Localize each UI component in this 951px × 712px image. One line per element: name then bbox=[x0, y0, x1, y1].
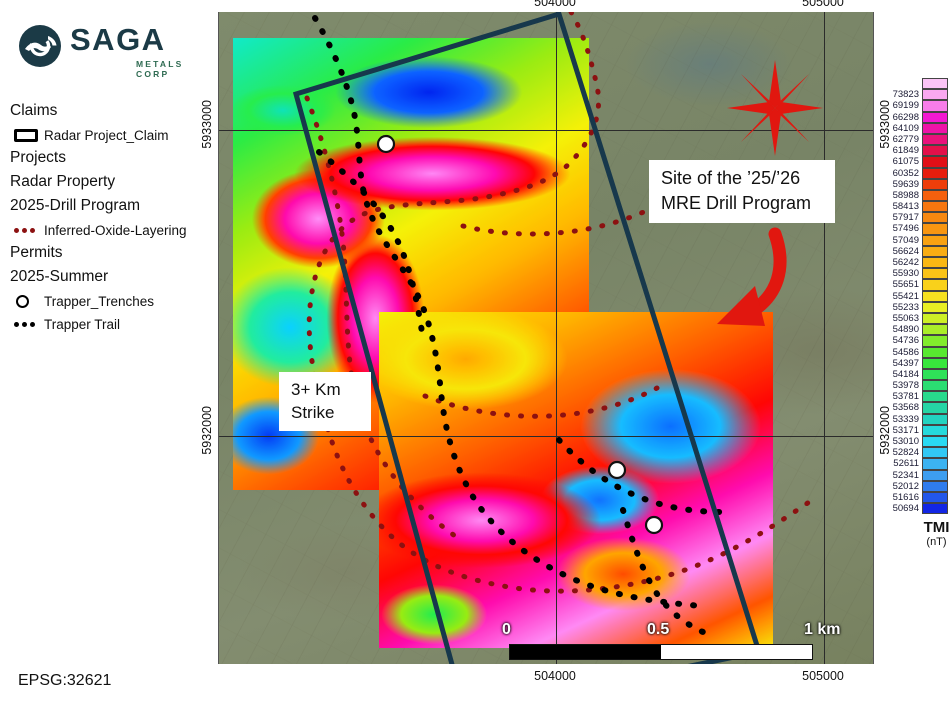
tmi-ramp-row: 53339 bbox=[878, 414, 951, 425]
legend-heading-claims: Claims bbox=[10, 100, 215, 122]
tmi-ramp-row: 64109 bbox=[878, 123, 951, 134]
tmi-ramp-row: 54890 bbox=[878, 324, 951, 335]
black-dotted-line-icon bbox=[10, 322, 44, 327]
tmi-ramp-row: 54586 bbox=[878, 347, 951, 358]
tmi-ramp-swatch bbox=[922, 279, 948, 290]
tmi-ramp-row: 52611 bbox=[878, 458, 951, 469]
tmi-ramp-swatch bbox=[922, 223, 948, 234]
tmi-ramp-value: 54736 bbox=[878, 335, 922, 346]
tmi-ramp-swatch bbox=[922, 190, 948, 201]
scalebar-label-0: 0 bbox=[502, 621, 511, 639]
tmi-ramp-row: 57496 bbox=[878, 223, 951, 234]
saga-logo-mark bbox=[18, 24, 62, 68]
tmi-ramp-row: 58988 bbox=[878, 190, 951, 201]
xtick-top-504000: 504000 bbox=[534, 0, 576, 9]
ytick-left-5932000: 5932000 bbox=[200, 406, 214, 455]
tmi-ramp-row: 53171 bbox=[878, 425, 951, 436]
tmi-ramp-value: 73823 bbox=[878, 89, 922, 100]
tmi-ramp-value: 53978 bbox=[878, 380, 922, 391]
tmi-ramp-swatch bbox=[922, 112, 948, 123]
tmi-ramp-swatch bbox=[922, 470, 948, 481]
saga-tagline: METALS CORP bbox=[136, 59, 198, 79]
tmi-ramp-swatch bbox=[922, 156, 948, 167]
scalebar-label-max: 1 km bbox=[804, 621, 840, 639]
circle-outline-icon bbox=[10, 295, 44, 308]
tmi-ramp-row: 54184 bbox=[878, 369, 951, 380]
tmi-ramp-swatch bbox=[922, 257, 948, 268]
tmi-ramp-value: 59639 bbox=[878, 179, 922, 190]
legend-heading-2025-summer: 2025-Summer bbox=[10, 266, 215, 288]
ytick-left-5933000: 5933000 bbox=[200, 100, 214, 149]
claim-rect-icon bbox=[10, 129, 44, 142]
tmi-ramp-row: 52824 bbox=[878, 447, 951, 458]
red-dotted-line-icon bbox=[10, 228, 44, 233]
tmi-ramp-swatch bbox=[922, 302, 948, 313]
legend-heading-permits: Permits bbox=[10, 242, 215, 264]
map-frame[interactable]: 0 0.5 1 km Site of the ’25/’26 MRE Drill… bbox=[218, 12, 872, 664]
map-legend: Claims Radar Project_Claim Projects Rada… bbox=[10, 100, 215, 336]
tmi-ramp-swatch bbox=[922, 235, 948, 246]
tmi-ramp-row: 56624 bbox=[878, 246, 951, 257]
tmi-ramp-value: 54397 bbox=[878, 358, 922, 369]
left-panel: SAGA METALS CORP Claims Radar Project_Cl… bbox=[0, 0, 218, 712]
tmi-ramp-swatch bbox=[922, 100, 948, 111]
tmi-ramp-value: 52824 bbox=[878, 447, 922, 458]
saga-wordmark: SAGA bbox=[70, 24, 166, 56]
tmi-ramp-value: 53339 bbox=[878, 414, 922, 425]
legend-heading-radar-property: Radar Property bbox=[10, 171, 215, 193]
tmi-ramp-value: 56624 bbox=[878, 246, 922, 257]
xtick-bottom-504000: 504000 bbox=[534, 669, 576, 683]
legend-heading-drill-program: 2025-Drill Program bbox=[10, 195, 215, 217]
tmi-ramp-value: 52611 bbox=[878, 458, 922, 469]
tmi-ramp-swatch bbox=[922, 402, 948, 413]
callout-line-2: MRE Drill Program bbox=[661, 191, 823, 216]
tmi-ramp-value: 64109 bbox=[878, 123, 922, 134]
tmi-ramp-row: 55063 bbox=[878, 313, 951, 324]
trench-marker bbox=[378, 136, 394, 152]
tmi-title: TMI bbox=[922, 519, 951, 536]
tmi-ramp-value: 58413 bbox=[878, 201, 922, 212]
tmi-ramp-value: 54184 bbox=[878, 369, 922, 380]
tmi-ramp-row: 60352 bbox=[878, 168, 951, 179]
tmi-color-ramp-rows: 7382369199662986410962779618496107560352… bbox=[878, 78, 951, 514]
tmi-ramp-swatch bbox=[922, 268, 948, 279]
tmi-ramp-value: 58988 bbox=[878, 190, 922, 201]
tmi-ramp-row: 54397 bbox=[878, 358, 951, 369]
tmi-ramp-swatch bbox=[922, 89, 948, 100]
tmi-ramp-swatch bbox=[922, 134, 948, 145]
tmi-ramp-row: 73823 bbox=[878, 89, 951, 100]
tmi-ramp-swatch bbox=[922, 492, 948, 503]
legend-item-trapper-trenches[interactable]: Trapper_Trenches bbox=[10, 290, 215, 312]
legend-label: Trapper Trail bbox=[44, 317, 120, 332]
tmi-ramp-swatch bbox=[922, 324, 948, 335]
tmi-ramp-swatch bbox=[922, 380, 948, 391]
tmi-ramp-row: 69199 bbox=[878, 100, 951, 111]
tmi-ramp-swatch bbox=[922, 347, 948, 358]
tmi-ramp-swatch bbox=[922, 503, 948, 514]
callout-strike-length: 3+ Km Strike bbox=[279, 372, 371, 431]
tmi-ramp-swatch bbox=[922, 212, 948, 223]
red-curved-arrow-icon bbox=[659, 224, 809, 344]
tmi-ramp-row bbox=[878, 78, 951, 89]
tmi-ramp-swatch bbox=[922, 447, 948, 458]
tmi-ramp-row: 66298 bbox=[878, 112, 951, 123]
tmi-ramp-value: 60352 bbox=[878, 168, 922, 179]
tmi-color-ramp: 7382369199662986410962779618496107560352… bbox=[878, 78, 951, 548]
tmi-ramp-value: 53781 bbox=[878, 391, 922, 402]
tmi-ramp-value: 55930 bbox=[878, 268, 922, 279]
tmi-ramp-row: 54736 bbox=[878, 335, 951, 346]
trench-marker bbox=[609, 462, 625, 478]
tmi-ramp-row: 55421 bbox=[878, 291, 951, 302]
callout-line-2: Strike bbox=[291, 401, 359, 424]
tmi-ramp-value: 66298 bbox=[878, 112, 922, 123]
tmi-ramp-value: 51616 bbox=[878, 492, 922, 503]
tmi-ramp-row: 57049 bbox=[878, 235, 951, 246]
legend-item-trapper-trail[interactable]: Trapper Trail bbox=[10, 313, 215, 335]
tmi-ramp-value: 50694 bbox=[878, 503, 922, 514]
tmi-ramp-value: 62779 bbox=[878, 134, 922, 145]
legend-label: Radar Project_Claim bbox=[44, 128, 169, 143]
tmi-ramp-row: 62779 bbox=[878, 134, 951, 145]
xtick-bottom-505000: 505000 bbox=[802, 669, 844, 683]
tmi-ramp-row: 58413 bbox=[878, 201, 951, 212]
tmi-ramp-swatch bbox=[922, 201, 948, 212]
tmi-ramp-swatch bbox=[922, 436, 948, 447]
tmi-ramp-value: 53568 bbox=[878, 402, 922, 413]
tmi-ramp-swatch bbox=[922, 335, 948, 346]
tmi-ramp-value: 55421 bbox=[878, 291, 922, 302]
tmi-ramp-value: 55063 bbox=[878, 313, 922, 324]
tmi-ramp-swatch bbox=[922, 246, 948, 257]
tmi-ramp-row: 53978 bbox=[878, 380, 951, 391]
tmi-ramp-value: 55233 bbox=[878, 302, 922, 313]
tmi-ramp-row: 61849 bbox=[878, 145, 951, 156]
tmi-ramp-value: 57917 bbox=[878, 212, 922, 223]
legend-item-radar-project-claim[interactable]: Radar Project_Claim bbox=[10, 124, 215, 146]
tmi-ramp-row: 52012 bbox=[878, 481, 951, 492]
tmi-ramp-row: 61075 bbox=[878, 156, 951, 167]
map-canvas[interactable]: 0 0.5 1 km Site of the ’25/’26 MRE Drill… bbox=[218, 12, 874, 664]
tmi-ramp-swatch bbox=[922, 179, 948, 190]
tmi-ramp-value: 54890 bbox=[878, 324, 922, 335]
legend-heading-projects: Projects bbox=[10, 147, 215, 169]
tmi-ramp-row: 53781 bbox=[878, 391, 951, 402]
tmi-ramp-swatch bbox=[922, 369, 948, 380]
saga-logo: SAGA METALS CORP bbox=[18, 22, 198, 74]
tmi-ramp-swatch bbox=[922, 291, 948, 302]
tmi-ramp-row: 50694 bbox=[878, 503, 951, 514]
tmi-ramp-value: 52012 bbox=[878, 481, 922, 492]
tmi-ramp-swatch bbox=[922, 458, 948, 469]
tmi-ramp-swatch bbox=[922, 123, 948, 134]
tmi-ramp-swatch bbox=[922, 313, 948, 324]
epsg-label: EPSG:32621 bbox=[18, 672, 111, 690]
tmi-ramp-value: 57049 bbox=[878, 235, 922, 246]
tmi-ramp-row: 53568 bbox=[878, 402, 951, 413]
tmi-ramp-swatch bbox=[922, 391, 948, 402]
legend-label: Trapper_Trenches bbox=[44, 294, 154, 309]
tmi-ramp-row: 59639 bbox=[878, 179, 951, 190]
tmi-ramp-swatch bbox=[922, 425, 948, 436]
callout-line-1: 3+ Km bbox=[291, 378, 359, 401]
tmi-ramp-value: 61075 bbox=[878, 156, 922, 167]
tmi-units: (nT) bbox=[922, 536, 951, 548]
legend-item-inferred-oxide-layering[interactable]: Inferred-Oxide-Layering bbox=[10, 219, 215, 241]
tmi-ramp-swatch bbox=[922, 168, 948, 179]
tmi-ramp-value: 61849 bbox=[878, 145, 922, 156]
tmi-ramp-value: 57496 bbox=[878, 223, 922, 234]
tmi-ramp-swatch bbox=[922, 145, 948, 156]
tmi-ramp-swatch bbox=[922, 481, 948, 492]
tmi-ramp-swatch bbox=[922, 414, 948, 425]
scalebar-label-mid: 0.5 bbox=[647, 621, 669, 639]
tmi-ramp-row: 55930 bbox=[878, 268, 951, 279]
tmi-ramp-row: 55233 bbox=[878, 302, 951, 313]
tmi-ramp-caption: TMI (nT) bbox=[922, 519, 951, 548]
tmi-ramp-row: 51616 bbox=[878, 492, 951, 503]
tmi-ramp-value: 53171 bbox=[878, 425, 922, 436]
tmi-ramp-row: 57917 bbox=[878, 212, 951, 223]
trench-marker bbox=[646, 517, 662, 533]
tmi-ramp-value: 54586 bbox=[878, 347, 922, 358]
tmi-ramp-row: 55651 bbox=[878, 279, 951, 290]
tmi-ramp-value: 56242 bbox=[878, 257, 922, 268]
legend-label: Inferred-Oxide-Layering bbox=[44, 223, 187, 238]
scale-bar bbox=[509, 644, 813, 660]
tmi-ramp-value: 53010 bbox=[878, 436, 922, 447]
callout-line-1: Site of the ’25/’26 bbox=[661, 166, 823, 191]
tmi-ramp-row: 52341 bbox=[878, 470, 951, 481]
tmi-ramp-value: 52341 bbox=[878, 470, 922, 481]
tmi-ramp-row: 56242 bbox=[878, 257, 951, 268]
tmi-ramp-value: 55651 bbox=[878, 279, 922, 290]
compass-star-icon bbox=[727, 60, 823, 156]
tmi-ramp-swatch bbox=[922, 78, 948, 89]
tmi-ramp-row: 53010 bbox=[878, 436, 951, 447]
tmi-ramp-value: 69199 bbox=[878, 100, 922, 111]
tmi-ramp-swatch bbox=[922, 358, 948, 369]
callout-mre-drill-program: Site of the ’25/’26 MRE Drill Program bbox=[649, 160, 835, 223]
xtick-top-505000: 505000 bbox=[802, 0, 844, 9]
